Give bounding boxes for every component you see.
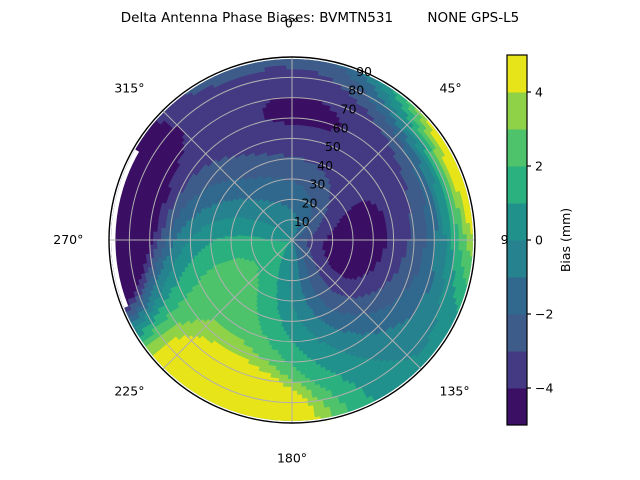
- radial-tick-60: 60: [333, 120, 349, 135]
- colorbar-band-1: [507, 351, 527, 389]
- radial-tick-40: 40: [317, 158, 333, 173]
- azimuth-tick-270: 270°: [53, 232, 83, 247]
- radial-tick-30: 30: [309, 177, 325, 192]
- radial-tick-90: 90: [356, 64, 372, 79]
- azimuth-tick-225: 225°: [114, 384, 144, 399]
- colorbar-band-3: [507, 277, 527, 315]
- azimuth-tick-45: 45°: [440, 80, 462, 95]
- colorbar: −4−2024 Bias (mm): [507, 55, 573, 426]
- colorbar-band-9: [507, 55, 527, 93]
- colorbar-band-8: [507, 92, 527, 130]
- colorbar-bands: [507, 55, 527, 426]
- colorbar-band-6: [507, 166, 527, 204]
- colorbar-tick-label-4: 4: [535, 85, 543, 100]
- radial-tick-50: 50: [325, 139, 341, 154]
- radial-tick-70: 70: [341, 102, 357, 117]
- colorbar-tick-label-1: −2: [535, 307, 553, 322]
- colorbar-tick-label-3: 2: [535, 159, 543, 174]
- radial-tick-20: 20: [302, 195, 318, 210]
- azimuth-tick-315: 315°: [114, 80, 144, 95]
- radial-tick-10: 10: [294, 214, 310, 229]
- colorbar-axis-label: Bias (mm): [558, 208, 573, 272]
- colorbar-band-5: [507, 203, 527, 241]
- chart-page: Delta Antenna Phase Biases: BVMTN531 NON…: [0, 0, 640, 480]
- radial-tick-80: 80: [348, 83, 364, 98]
- colorbar-band-2: [507, 314, 527, 352]
- colorbar-tick-label-0: −4: [535, 381, 553, 396]
- azimuth-tick-135: 135°: [440, 384, 470, 399]
- polar-contour-plot: 0°45°90°135°180°225°270°315° 10203040506…: [0, 0, 640, 480]
- azimuth-tick-0: 0°: [285, 15, 299, 30]
- azimuth-tick-180: 180°: [277, 451, 307, 466]
- colorbar-ticks: −4−2024: [527, 85, 553, 396]
- polar-grid: [109, 57, 475, 423]
- colorbar-band-7: [507, 129, 527, 167]
- colorbar-band-4: [507, 240, 527, 278]
- colorbar-band-0: [507, 388, 527, 426]
- colorbar-tick-label-2: 0: [535, 233, 543, 248]
